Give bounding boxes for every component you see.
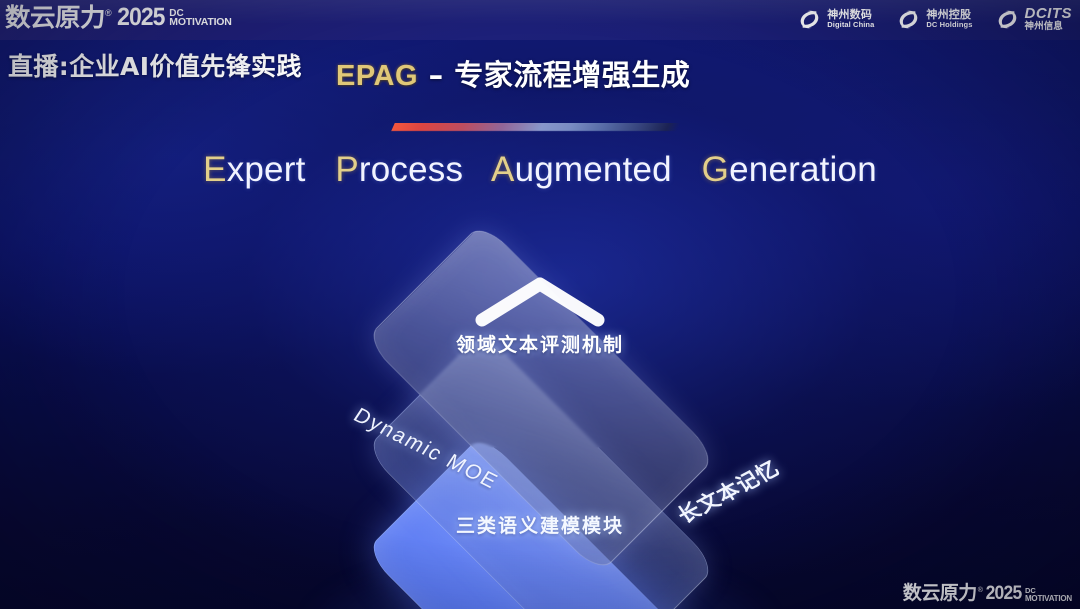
watermark-brand: 数云原力 ® 2025 DC MOTIVATION: [903, 584, 1072, 603]
watermark-name-cn: 数云原力: [903, 584, 977, 603]
watermark-registered-mark: ®: [978, 587, 983, 594]
partner-name-cn: DCITS: [1025, 6, 1073, 22]
subtitle-word-augmented: Augmented: [491, 150, 672, 189]
subtitle-cap: A: [491, 150, 515, 189]
subtitle-word-generation: Generation: [702, 150, 877, 189]
subtitle-expanded-acronym: Expert Process Augmented Generation: [0, 150, 1080, 190]
partner-name-en: DC Holdings: [926, 21, 972, 29]
spiral-logo-icon: [995, 7, 1020, 32]
brand-year: 2025: [117, 5, 165, 30]
brand-motivation-text: MOTIVATION: [169, 18, 231, 28]
partner-label: DCITS 神州信息: [1025, 6, 1073, 32]
title-chinese: 专家流程增强生成: [454, 58, 690, 92]
title-acronym: EPAG: [336, 60, 418, 92]
subtitle-space: [473, 150, 483, 189]
watermark-dc-motivation: DC MOTIVATION: [1025, 588, 1072, 602]
registered-mark: ®: [105, 8, 112, 18]
subtitle-space: [315, 150, 325, 189]
live-stream-banner: 直播:企业AI价值先锋实践: [8, 47, 302, 83]
subtitle-space: [682, 150, 692, 189]
partner-logo-digital-china: 神州数码 Digital China: [797, 7, 874, 32]
subtitle-cap: G: [702, 150, 729, 189]
watermark-year: 2025: [985, 584, 1021, 603]
slide-canvas: 数云原力 ® 2025 DC MOTIVATION 神州数码 Digital C…: [0, 0, 1080, 609]
subtitle-cap: P: [335, 150, 359, 189]
subtitle-rest: ugmented: [515, 150, 672, 189]
brand-lockup: 数云原力 ® 2025 DC MOTIVATION: [6, 5, 232, 30]
gradient-divider: [391, 123, 681, 131]
partner-name-en: 神州信息: [1025, 22, 1073, 32]
subtitle-word-expert: Expert: [203, 150, 305, 189]
page-title: EPAG – 专家流程增强生成: [336, 52, 690, 94]
diagram-label-top: 领域文本评测机制: [456, 330, 624, 357]
subtitle-cap: E: [203, 150, 227, 189]
diagram-label-bottom: 三类语义建模模块: [456, 511, 624, 538]
watermark-motivation-text: MOTIVATION: [1025, 595, 1072, 602]
subtitle-rest: eneration: [729, 150, 877, 189]
partner-logo-dcits: DCITS 神州信息: [995, 6, 1073, 32]
layered-architecture-diagram: 领域文本评测机制 Dynamic MOE 长文本记忆 三类语义建模模块: [270, 222, 810, 582]
subtitle-rest: rocess: [359, 150, 463, 189]
partner-name-en: Digital China: [827, 21, 874, 29]
subtitle-rest: xpert: [227, 150, 306, 189]
partner-label: 神州控股 DC Holdings: [926, 9, 972, 29]
partner-logo-group: 神州数码 Digital China 神州控股 DC Holdings DCIT…: [797, 6, 1072, 32]
chevron-up-icon: [470, 272, 610, 332]
brand-dc-motivation: DC MOTIVATION: [169, 9, 231, 28]
title-separator: –: [418, 58, 454, 92]
brand-name-cn: 数云原力: [5, 5, 105, 30]
spiral-logo-icon: [896, 7, 921, 32]
subtitle-word-process: Process: [335, 150, 463, 189]
spiral-logo-icon: [797, 7, 822, 32]
partner-logo-dc-holdings: 神州控股 DC Holdings: [896, 7, 972, 32]
partner-label: 神州数码 Digital China: [827, 9, 874, 29]
